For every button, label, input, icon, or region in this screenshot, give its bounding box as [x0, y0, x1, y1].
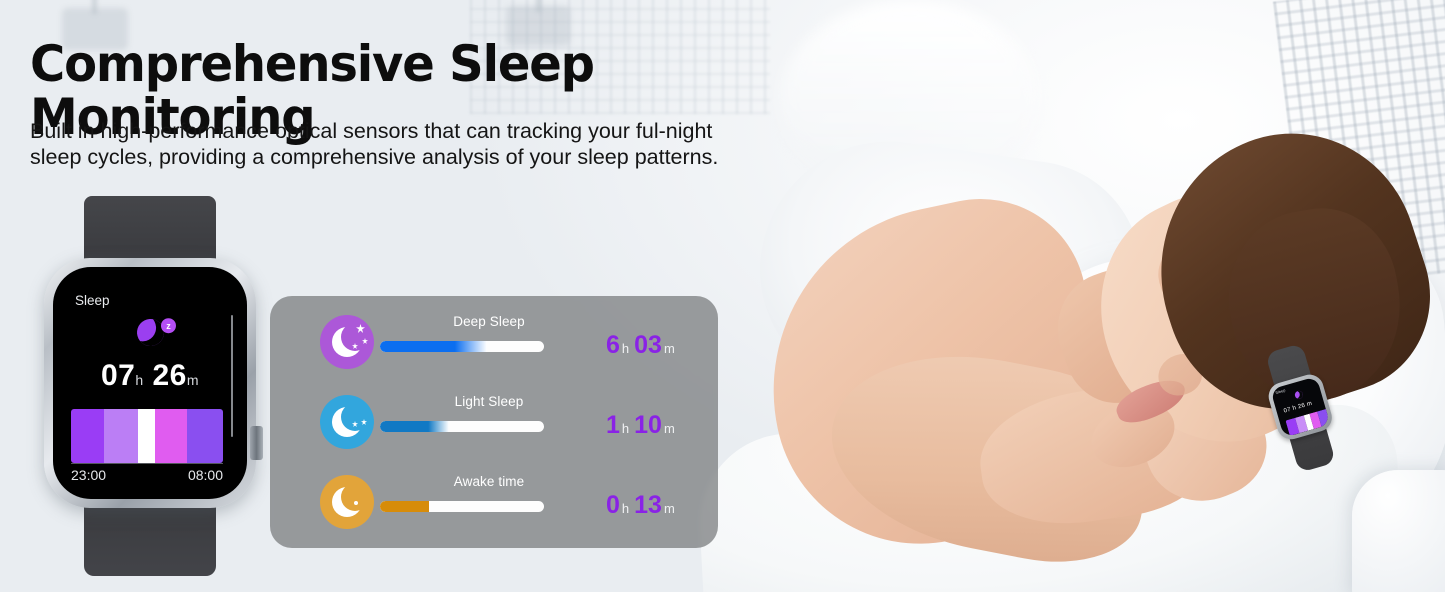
sleeping-woman — [760, 60, 1400, 580]
subtitle-line-1: Built in high-performance optical sensor… — [30, 118, 790, 144]
sleep-meter: Light Sleep — [380, 413, 598, 432]
sleep-progress-bar[interactable] — [380, 501, 544, 512]
smartwatch: Sleep z 07h 26m 23:00 08:00 — [40, 196, 260, 572]
sleep-hours: 0 — [606, 491, 620, 519]
watch-duration-hours-unit: h — [135, 372, 143, 388]
watch-scroll-indicator[interactable] — [231, 315, 233, 437]
watch-duration-hours: 07 — [101, 359, 135, 392]
watch-sleep-title: Sleep — [75, 293, 110, 308]
sleep-hours: 6 — [606, 331, 620, 359]
watch-start-time: 23:00 — [71, 467, 106, 483]
sleep-minutes: 10 — [634, 411, 662, 439]
moon-dot-icon — [320, 475, 374, 529]
sleep-progress-fill — [380, 341, 487, 352]
sleep-stage-segment-0 — [71, 409, 104, 463]
sleep-minutes: 03 — [634, 331, 662, 359]
sleep-row-label: Light Sleep — [380, 394, 598, 409]
watch-side-button[interactable] — [250, 426, 263, 460]
sleep-stage-segment-3 — [155, 409, 187, 463]
sleep-stage-segment-2 — [138, 409, 155, 463]
sleep-minutes-unit: m — [664, 341, 675, 356]
sleep-meter: Deep Sleep — [380, 333, 598, 352]
worn-watch-title: Sleep — [1275, 388, 1286, 396]
sleep-minutes-unit: m — [664, 501, 675, 516]
sleep-row-light-sleep[interactable]: Light Sleep1h10m — [270, 382, 718, 462]
sleep-progress-fill — [380, 501, 429, 512]
sleep-row-awake-time[interactable]: Awake time0h13m — [270, 462, 718, 542]
sleep-row-label: Deep Sleep — [380, 314, 598, 329]
moon-stars-icon — [320, 315, 374, 369]
watch-z-badge: z — [160, 318, 175, 333]
worn-watch-time: 07 h 26 m — [1283, 401, 1313, 415]
sleep-hours: 1 — [606, 411, 620, 439]
watch-screen[interactable]: Sleep z 07h 26m 23:00 08:00 — [53, 267, 247, 499]
sleep-stage-segment-4 — [187, 409, 223, 463]
sleep-hours-unit: h — [622, 421, 629, 436]
lamp-stem-left — [92, 0, 97, 14]
sleep-row-deep-sleep[interactable]: Deep Sleep6h03m — [270, 302, 718, 382]
watch-duration-minutes-unit: m — [187, 372, 199, 388]
watch-duration-minutes: 26 — [152, 359, 186, 392]
worn-watch-screen: Sleep 07 h 26 m — [1270, 376, 1330, 437]
watch-end-time: 08:00 — [188, 467, 223, 483]
worn-watch-moon-icon — [1294, 390, 1304, 400]
sleep-hours-unit: h — [622, 501, 629, 516]
watch-chart-time-labels: 23:00 08:00 — [71, 467, 223, 483]
moon-stars-icon — [320, 395, 374, 449]
watch-sleep-duration: 07h 26m — [53, 359, 247, 393]
watch-strap-bottom — [84, 496, 216, 576]
watch-case: Sleep z 07h 26m 23:00 08:00 — [44, 258, 256, 508]
watch-moon-icon: z — [53, 319, 247, 353]
dot-icon — [354, 501, 358, 505]
watch-sleep-stage-chart — [71, 409, 223, 463]
sleep-row-label: Awake time — [380, 474, 598, 489]
subtitle-line-2: sleep cycles, providing a comprehensive … — [30, 144, 790, 170]
sleep-row-value: 0h13m — [606, 491, 718, 520]
sleep-row-value: 1h10m — [606, 411, 718, 440]
sleep-progress-fill — [380, 421, 449, 432]
sleep-minutes-unit: m — [664, 421, 675, 436]
sleep-progress-bar[interactable] — [380, 341, 544, 352]
sleep-meter: Awake time — [380, 493, 598, 512]
sleep-minutes: 13 — [634, 491, 662, 519]
sleep-stage-segment-1 — [104, 409, 137, 463]
sleep-hours-unit: h — [622, 341, 629, 356]
sleep-stats-panel: Deep Sleep6h03mLight Sleep1h10mAwake tim… — [270, 296, 718, 548]
page-subtitle: Built in high-performance optical sensor… — [30, 118, 790, 170]
sleep-row-value: 6h03m — [606, 331, 718, 360]
watch-chart-axis — [71, 463, 223, 464]
sleep-progress-bar[interactable] — [380, 421, 544, 432]
